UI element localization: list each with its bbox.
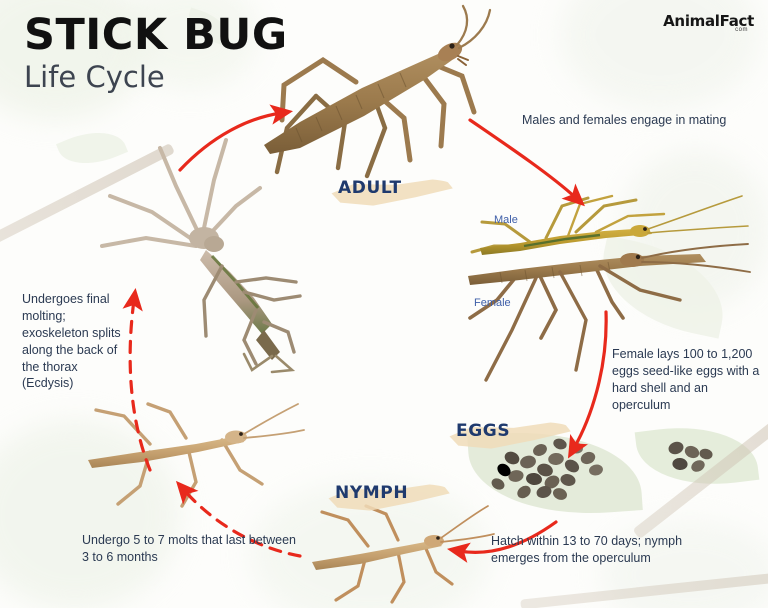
stage-label-nymph: NYMPH: [335, 483, 408, 503]
label-male: Male: [494, 214, 518, 226]
nymph-bottom-illustration: [312, 506, 494, 602]
note-eggs: Female lays 100 to 1,200 eggs seed-like …: [612, 346, 764, 414]
stage-label-adult: ADULT: [338, 178, 402, 198]
note-molts: Undergo 5 to 7 molts that last between 3…: [82, 532, 296, 566]
label-female: Female: [474, 297, 511, 309]
infographic-canvas: STICK BUG Life Cycle AnimalFact com ADUL…: [0, 0, 768, 608]
note-hatch: Hatch within 13 to 70 days; nymph emerge…: [491, 533, 731, 567]
adult-stick-bug-illustration: [264, 6, 490, 176]
arrow-mating-to-eggs: [574, 312, 606, 448]
arrow-adult-to-mating: [470, 120, 576, 198]
stage-label-eggs: EGGS: [456, 421, 510, 441]
arrow-molt-to-adult: [180, 113, 281, 170]
title-subtitle: Life Cycle: [24, 63, 288, 92]
stage-label-adult-text: ADULT: [338, 178, 402, 198]
note-ecdysis: Undergoes final molting; exoskeleton spl…: [22, 291, 126, 392]
stage-label-eggs-text: EGGS: [456, 421, 510, 441]
stage-label-nymph-text: NYMPH: [335, 483, 408, 503]
page-title: STICK BUG Life Cycle: [24, 14, 288, 92]
brand-logo[interactable]: AnimalFact com: [663, 12, 754, 33]
molting-stick-bug-illustration: [102, 140, 300, 372]
egg-cluster-main: [490, 437, 604, 502]
note-mating: Males and females engage in mating: [522, 112, 750, 129]
title-main: STICK BUG: [24, 14, 288, 57]
nymph-left-illustration: [88, 404, 304, 506]
egg-cluster-secondary: [667, 440, 714, 474]
arrow-nymph-to-molt: [130, 300, 150, 470]
